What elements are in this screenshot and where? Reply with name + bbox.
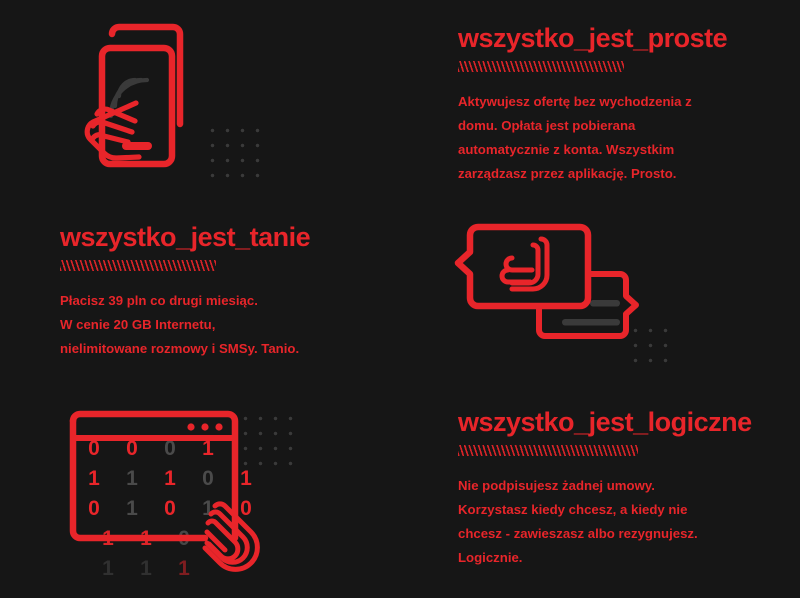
page-title-tanie: wszystko_jest_tanie bbox=[60, 223, 390, 251]
hatch-divider bbox=[60, 260, 216, 271]
section-tanie: wszystko_jest_tanie Płacisz 39 pln co dr… bbox=[60, 223, 390, 361]
body-line: W cenie 20 GB Internetu, bbox=[60, 313, 390, 337]
promo-page: wszystko_jest_proste Aktywujesz ofertę b… bbox=[0, 0, 800, 598]
body-line: Korzystasz kiedy chcesz, a kiedy nie bbox=[458, 498, 788, 522]
body-line: Nie podpisujesz żadnej umowy. bbox=[458, 474, 788, 498]
body-line: Płacisz 39 pln co drugi miesiąc. bbox=[60, 289, 390, 313]
section-body-proste: Aktywujesz ofertę bez wychodzenia z domu… bbox=[458, 72, 778, 186]
body-line: Aktywujesz ofertę bez wychodzenia z bbox=[458, 90, 778, 114]
binary-window-hand-icon: 00011110101010110111 bbox=[55, 398, 295, 598]
section-body-logiczne: Nie podpisujesz żadnej umowy. Korzystasz… bbox=[458, 456, 788, 570]
page-title-logiczne: wszystko_jest_logiczne bbox=[458, 408, 788, 436]
section-logiczne: wszystko_jest_logiczne Nie podpisujesz ż… bbox=[458, 408, 788, 570]
browser-window-illustration bbox=[55, 398, 295, 598]
page-title-proste: wszystko_jest_proste bbox=[458, 24, 778, 52]
hatch-divider bbox=[458, 61, 624, 72]
section-proste: wszystko_jest_proste Aktywujesz ofertę b… bbox=[458, 24, 778, 186]
body-line: chcesz - zawieszasz albo rezygnujesz. bbox=[458, 522, 788, 546]
speech-bubbles-thumbsup-icon bbox=[440, 212, 675, 382]
dot-grid-decoration bbox=[202, 120, 268, 186]
body-line: zarządzasz przez aplikację. Prosto. bbox=[458, 162, 778, 186]
dot-grid-decoration bbox=[625, 320, 677, 372]
body-line: Logicznie. bbox=[458, 546, 788, 570]
body-line: domu. Opłata jest pobierana bbox=[458, 114, 778, 138]
hatch-divider bbox=[458, 445, 638, 456]
phone-tap-icon bbox=[60, 8, 280, 203]
body-line: nielimitowane rozmowy i SMSy. Tanio. bbox=[60, 337, 390, 361]
body-line: automatycznie z konta. Wszystkim bbox=[458, 138, 778, 162]
section-body-tanie: Płacisz 39 pln co drugi miesiąc. W cenie… bbox=[60, 271, 390, 361]
